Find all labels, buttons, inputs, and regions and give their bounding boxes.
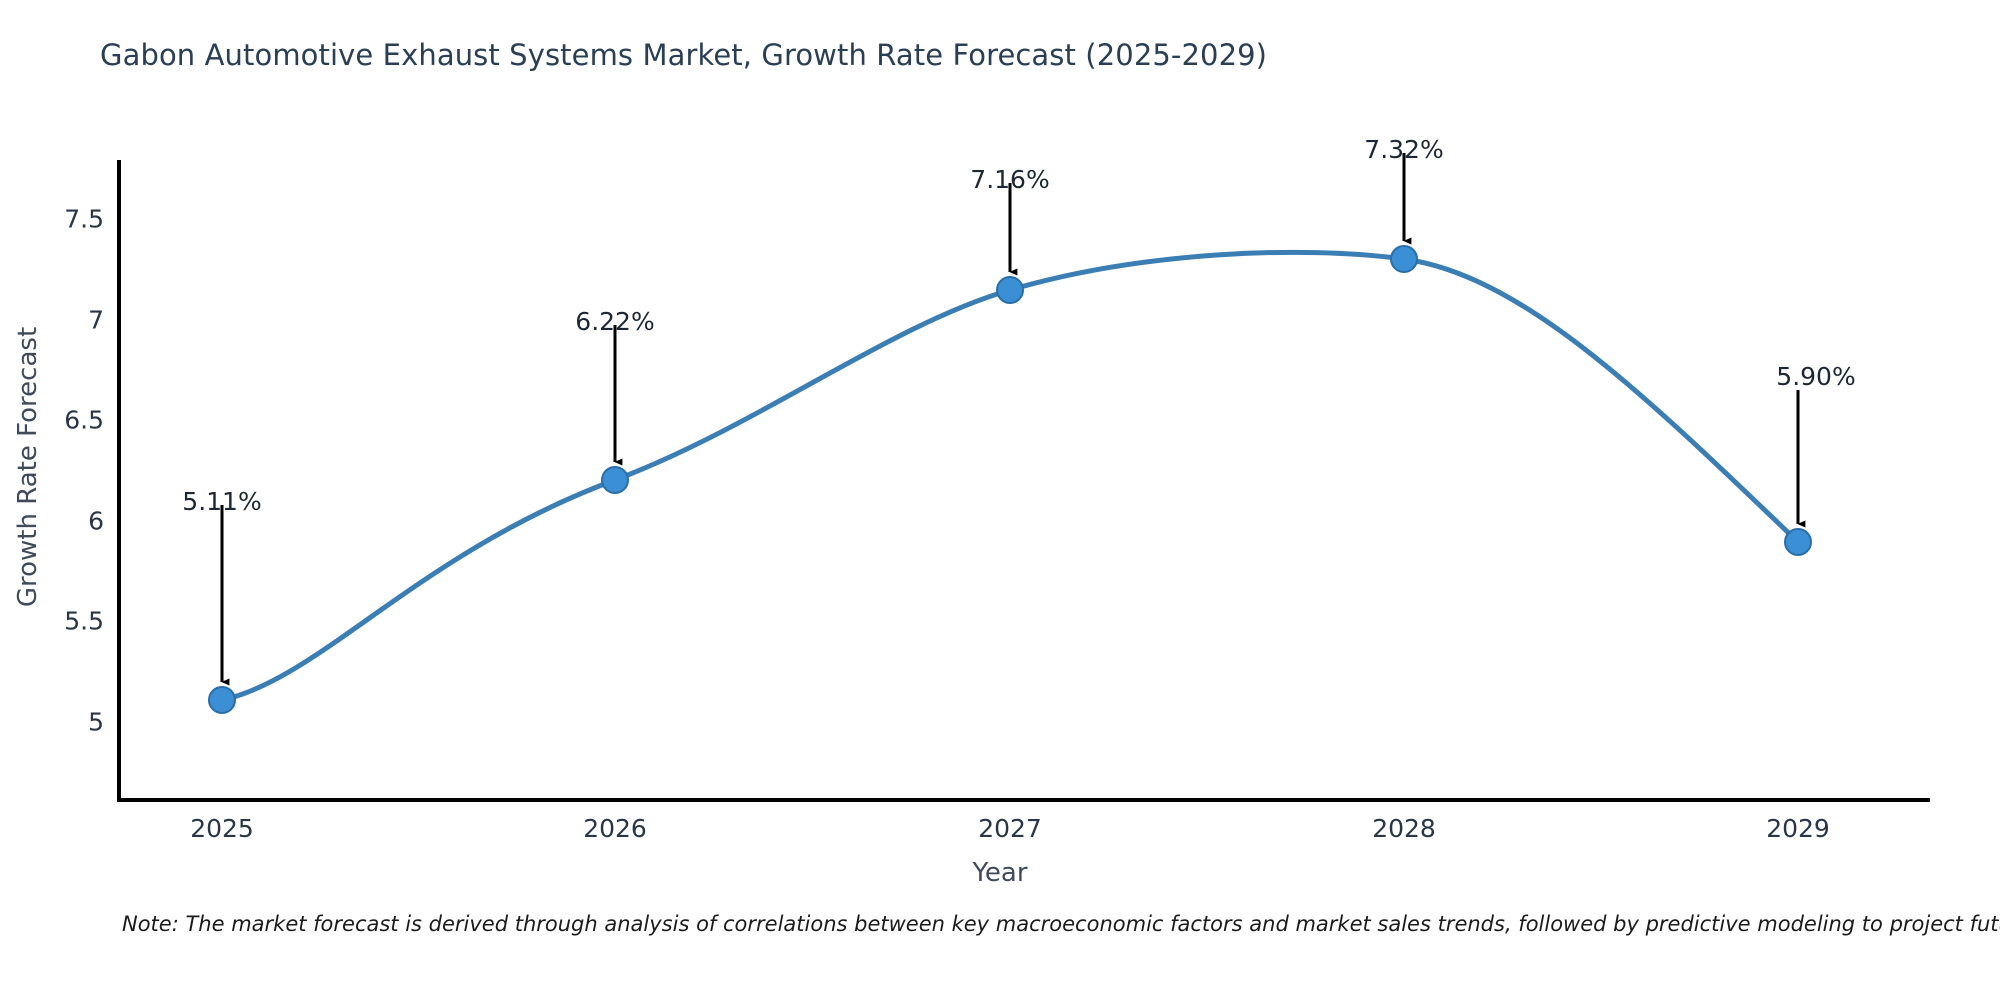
data-point-2028[interactable] xyxy=(1391,246,1417,272)
footer-note: Note: The market forecast is derived thr… xyxy=(122,912,2000,936)
data-point-2026[interactable] xyxy=(602,467,628,493)
chart-root: Gabon Automotive Exhaust Systems Market,… xyxy=(0,0,2000,1000)
data-point-2025[interactable] xyxy=(209,687,235,713)
plot-area xyxy=(0,0,2000,1000)
series-line xyxy=(222,252,1798,700)
data-point-2029[interactable] xyxy=(1785,529,1811,555)
data-point-2027[interactable] xyxy=(997,277,1023,303)
